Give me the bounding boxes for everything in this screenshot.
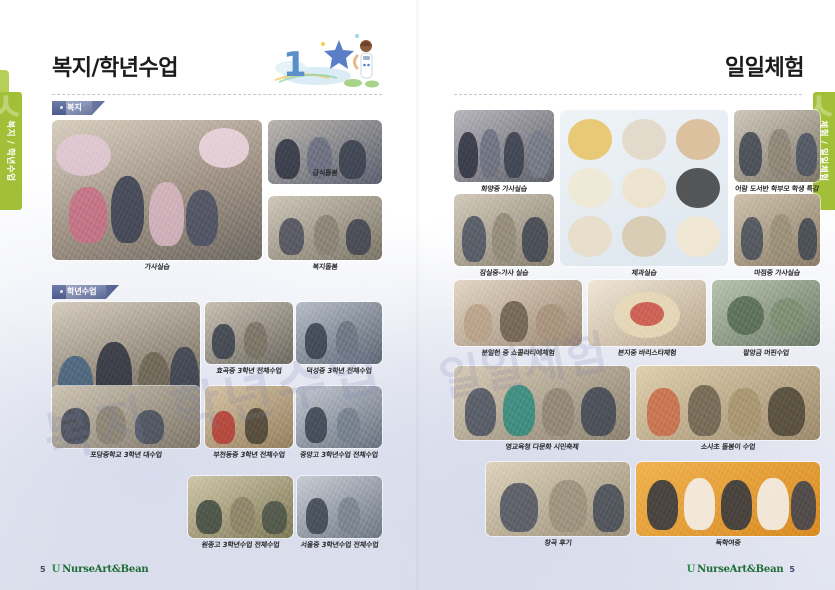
photo-texture (52, 120, 262, 260)
section-tag-welfare: 복지 (52, 101, 92, 115)
photo-caption: 급식돌봄 (268, 170, 383, 177)
sidebar-tab-left-label: 복지 / 학년수업 (5, 120, 17, 181)
photo-caption: 본지중 바리스타체험 (588, 350, 707, 357)
photo-card[interactable] (636, 462, 820, 536)
photo-content (560, 110, 728, 266)
photo-texture (188, 476, 293, 538)
photo-card[interactable] (454, 194, 554, 266)
section-bullet-icon (60, 290, 63, 293)
section-bullet-icon (60, 106, 63, 109)
photo-card[interactable] (560, 110, 728, 266)
sidebar-tab-left[interactable]: ㅅ 복지 / 학년수업 (0, 92, 22, 210)
photo-texture (454, 280, 582, 346)
photo-caption: 잠실중-가사 실습 (454, 270, 555, 277)
photo-card[interactable] (734, 194, 820, 266)
photo-card[interactable] (454, 366, 630, 440)
photo-caption: 독학여중 (636, 540, 821, 547)
left-page: ㅅ 복지 / 학년수업 복지/학년수업 1 (0, 0, 417, 590)
photo-card[interactable] (205, 302, 293, 364)
photo-card[interactable] (636, 366, 820, 440)
photo-texture (636, 366, 820, 440)
photo-texture (734, 194, 820, 266)
photo-texture (268, 196, 382, 260)
photo-caption: 화양중 가사실습 (454, 186, 555, 193)
photo-caption: 복지돌봄 (268, 264, 383, 271)
photo-texture (588, 280, 706, 346)
photo-caption: 원종고 3학년수업 전체수업 (188, 542, 294, 549)
photo-caption: 분일헌 중 쇼콜라티에체험 (454, 350, 583, 357)
page-title-right: 일일체험 (725, 58, 804, 80)
photo-texture (712, 280, 820, 346)
left-page-header: 복지/학년수업 (52, 40, 382, 96)
photo-texture (454, 110, 554, 182)
photo-texture (454, 194, 554, 266)
left-page-footer: 5 UNurseArt&Bean (40, 562, 148, 576)
section-tag-grade-class-label: 학년수업 (67, 287, 96, 296)
brand-logo: UNurseArt&Bean (52, 564, 149, 575)
left-header-divider (52, 94, 382, 95)
right-header-divider (454, 94, 802, 95)
photo-texture (454, 366, 630, 440)
photo-card[interactable] (454, 110, 554, 182)
photo-caption: 어람 도서반 학부모 학생 특강 (734, 186, 821, 193)
photo-texture (734, 110, 820, 182)
photo-texture (486, 462, 630, 536)
photo-card[interactable] (205, 386, 293, 448)
photo-caption: 효곡중 3학년 전체수업 (205, 368, 294, 375)
photo-caption: 포당중학교 3학년 대수업 (52, 452, 201, 459)
photo-card[interactable] (52, 120, 262, 260)
photo-caption: 중앙고 3학년수업 전체수업 (296, 452, 383, 459)
photo-card[interactable] (712, 280, 820, 346)
photo-caption: 영교육청 다문화 시민축제 (454, 444, 631, 451)
photo-caption: 팥앙금 머핀수업 (712, 350, 821, 357)
photo-caption: 서울중 3학년수업 전체수업 (297, 542, 383, 549)
photo-texture (52, 386, 200, 448)
photo-caption: 마점중 가사실습 (734, 270, 821, 277)
right-page: ㅅ 체험 / 일일체험 일일체험 (418, 0, 835, 590)
photo-texture (297, 476, 382, 538)
photo-card[interactable] (268, 196, 382, 260)
photo-texture (205, 302, 293, 364)
photo-card[interactable] (188, 476, 293, 538)
brand-logo: UNurseArt&Bean (687, 564, 784, 575)
photo-card[interactable] (297, 476, 382, 538)
photo-caption: 부천동중 3학년 전체수업 (205, 452, 294, 459)
page-number-left: 5 (40, 565, 46, 574)
photo-caption: 가사실습 (52, 264, 263, 271)
photo-card[interactable] (588, 280, 706, 346)
right-page-footer: UNurseArt&Bean 5 (687, 562, 795, 576)
photo-caption: 제과실습 (560, 270, 729, 277)
photo-caption: 창곡 후기 (486, 540, 631, 547)
brand-name: NurseArt&Bean (62, 564, 148, 575)
brand-mark-icon: U (52, 564, 61, 575)
photo-card[interactable] (454, 280, 582, 346)
section-tag-grade-class: 학년수업 (52, 285, 106, 299)
photo-card[interactable] (296, 386, 382, 448)
photo-card[interactable] (296, 302, 382, 364)
section-tag-welfare-label: 복지 (67, 103, 82, 112)
page-title-left: 복지/학년수업 (52, 58, 178, 80)
page-number-right: 5 (789, 565, 795, 574)
photo-texture (636, 462, 820, 536)
magazine-spread: ㅅ 복지 / 학년수업 복지/학년수업 1 (0, 0, 835, 590)
photo-caption: 덕성중 3학년 전체수업 (296, 368, 383, 375)
photo-caption: 소사초 돌봄이 수업 (636, 444, 821, 451)
photo-texture (296, 386, 382, 448)
photo-texture (205, 386, 293, 448)
right-page-header: 일일체험 (454, 40, 804, 96)
photo-texture (296, 302, 382, 364)
photo-card[interactable] (52, 386, 200, 448)
brand-name: NurseArt&Bean (697, 564, 783, 575)
brand-mark-icon: U (687, 564, 696, 575)
photo-card[interactable] (734, 110, 820, 182)
photo-card[interactable] (486, 462, 630, 536)
